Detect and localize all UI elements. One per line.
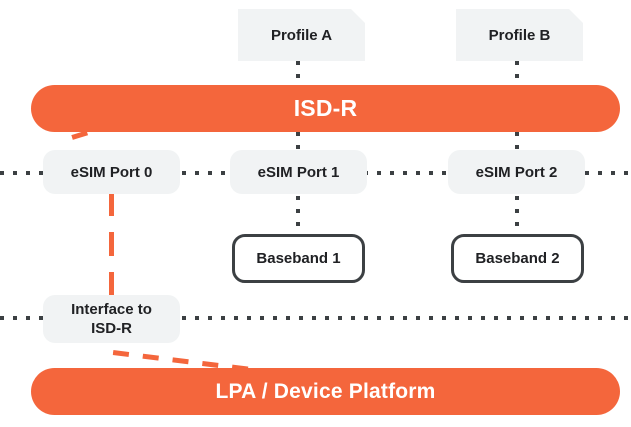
esim-port-2-label: eSIM Port 2	[476, 163, 558, 182]
profile-card-a-label: Profile A	[271, 27, 332, 44]
esim-port-1-label: eSIM Port 1	[258, 163, 340, 182]
connector-profile-b-to-isdr	[515, 61, 519, 87]
esim-port-2-chip: eSIM Port 2	[448, 150, 585, 194]
esim-architecture-diagram: Profile A Profile B ISD-R eSIM Port 0 eS…	[0, 0, 631, 427]
interface-to-isdr-label-line2: ISD-R	[91, 319, 132, 338]
interface-to-isdr-chip: Interface to ISD-R	[43, 295, 180, 343]
esim-port-0-label: eSIM Port 0	[71, 163, 153, 182]
connector-port2-to-baseband2	[515, 196, 519, 234]
profile-card-b-label: Profile B	[489, 27, 551, 44]
connector-port0-to-interface	[109, 192, 114, 310]
connector-profile-a-to-isdr	[296, 61, 300, 87]
profile-card-b: Profile B	[456, 9, 583, 61]
baseband-1-box: Baseband 1	[232, 234, 365, 283]
isdr-bar-label: ISD-R	[294, 95, 358, 122]
esim-port-0-chip: eSIM Port 0	[43, 150, 180, 194]
interface-to-isdr-label-line1: Interface to	[71, 300, 152, 319]
lpa-device-platform-bar: LPA / Device Platform	[31, 368, 620, 415]
connector-isdr-to-port2	[515, 132, 519, 152]
connector-port1-to-baseband1	[296, 196, 300, 234]
baseband-1-label: Baseband 1	[256, 250, 340, 267]
esim-port-1-chip: eSIM Port 1	[230, 150, 367, 194]
connector-isdr-to-port1	[296, 132, 300, 152]
profile-card-a: Profile A	[238, 9, 365, 61]
lpa-device-platform-label: LPA / Device Platform	[215, 380, 435, 404]
baseband-2-box: Baseband 2	[451, 234, 584, 283]
baseband-2-label: Baseband 2	[475, 250, 559, 267]
